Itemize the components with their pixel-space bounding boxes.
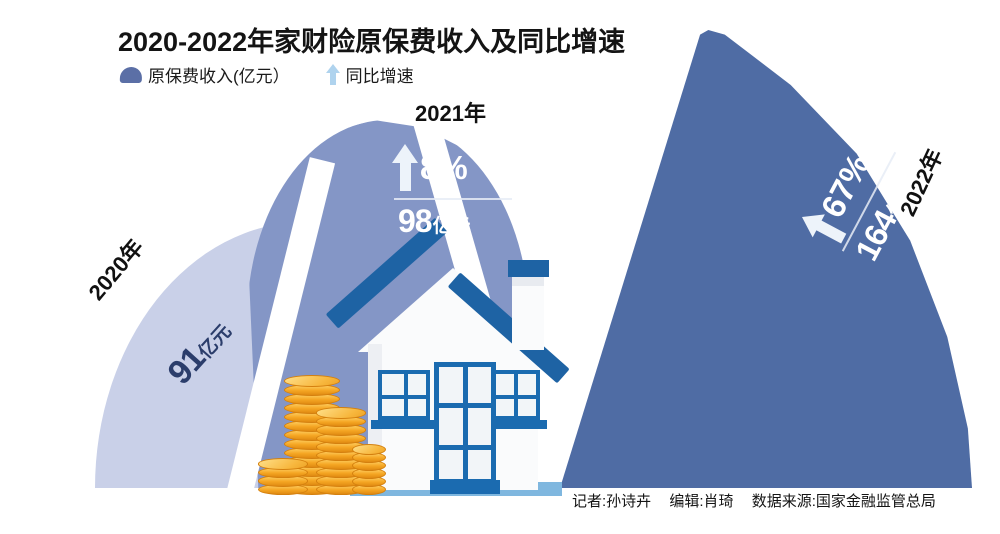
chart-legend: 原保费收入(亿元） 同比增速 [120, 62, 414, 87]
footer-reporter: 记者:孙诗卉 [572, 493, 651, 510]
value-number-2021: 98 [398, 203, 432, 240]
door-rail-lower [434, 445, 496, 450]
premium-row-2021: 98 亿元 [392, 203, 532, 240]
footer-credits: 记者:孙诗卉 编辑:肖琦 数据来源:国家金融监管总局 [572, 490, 950, 511]
footer-source: 数据来源:国家金融监管总局 [752, 493, 936, 510]
door-rail-upper [434, 403, 496, 408]
coin [258, 458, 308, 470]
chimney-cap [508, 260, 549, 277]
footer-editor: 编辑:肖琦 [669, 493, 733, 510]
legend-label-premium: 原保费收入(亿元） [148, 62, 290, 87]
coin [284, 375, 340, 387]
door-step [430, 480, 500, 494]
up-arrow-icon [326, 65, 340, 85]
fan-swatch-icon [120, 67, 143, 83]
front-door [434, 362, 496, 484]
up-arrow-icon [392, 143, 418, 191]
coin-stacks-illustration [258, 355, 368, 495]
value-unit-2021: 亿元 [433, 211, 471, 238]
infographic-canvas: 2020年 2021年 2022年 91亿元 8% 98 亿元 67% 164 … [0, 0, 1000, 534]
legend-item-growth: 同比增速 [326, 62, 414, 87]
value-block-2021: 8% 98 亿元 [392, 140, 532, 240]
coin [352, 444, 386, 455]
legend-label-growth: 同比增速 [346, 62, 414, 87]
growth-value-2021: 8% [420, 151, 468, 184]
year-label-2020: 2020年 [80, 231, 150, 306]
legend-item-premium: 原保费收入(亿元） [120, 62, 290, 87]
page-title: 2020-2022年家财险原保费收入及同比增速 [118, 20, 625, 59]
growth-row-2021: 8% [392, 140, 532, 194]
coin [316, 407, 366, 419]
year-label-2021: 2021年 [415, 96, 486, 128]
value-divider-2021 [394, 198, 512, 200]
chimney-band [512, 277, 544, 286]
